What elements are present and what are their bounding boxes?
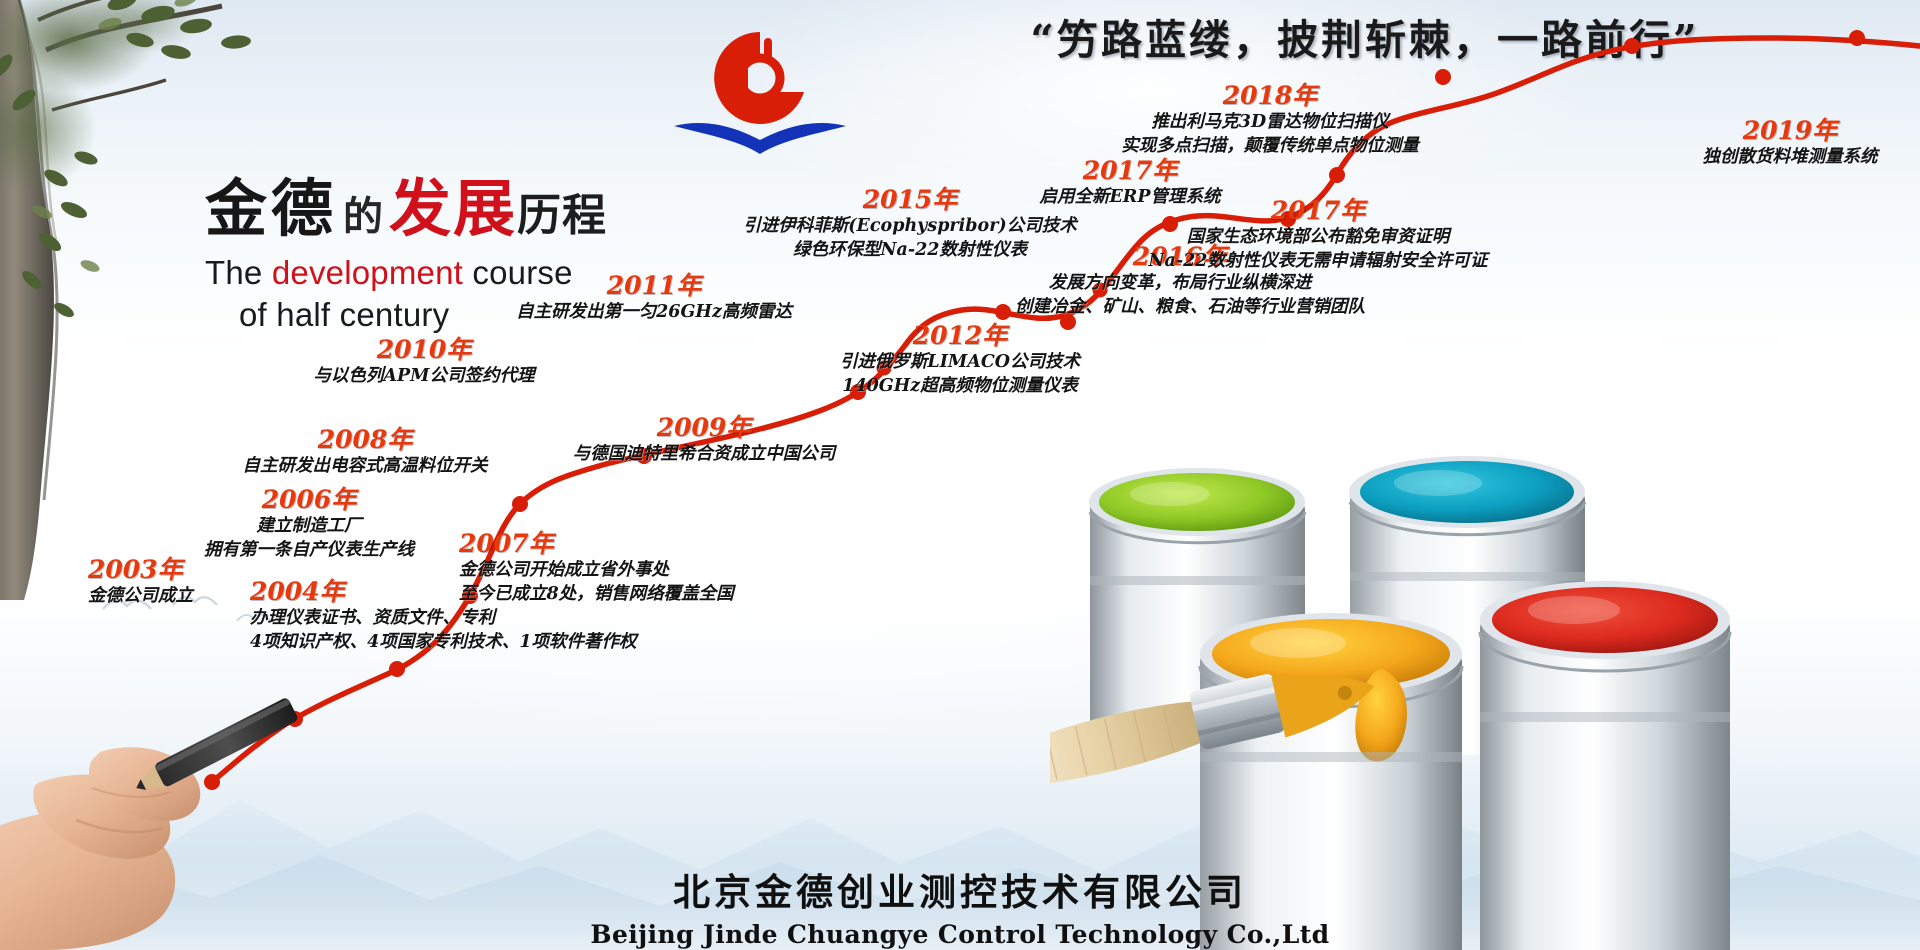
milestone-year: 2006年	[159, 486, 459, 514]
milestone-line: 引进俄罗斯LIMACO公司技术	[800, 350, 1120, 375]
headline-development: 发展	[389, 178, 517, 240]
milestone-line: 140GHz超高频物位测量仪表	[800, 374, 1120, 399]
milestone-year: 2009年	[534, 414, 874, 442]
headline-de: 的	[337, 197, 389, 237]
milestone-line: 4项知识产权、4项国家专利技术、1项软件著作权	[250, 630, 637, 655]
headline-course: 历程	[517, 194, 607, 238]
milestone-line: 自主研发出电容式高温料位开关	[195, 454, 535, 479]
milestone-2008: 2008年 自主研发出电容式高温料位开关	[195, 426, 535, 478]
milestone-year: 2017年	[995, 157, 1265, 185]
headline-brand: 金德	[205, 178, 337, 240]
milestone-line: 至今已成立8处，销售网络覆盖全国	[459, 582, 734, 607]
milestone-2010: 2010年 与以色列APM公司签约代理	[284, 336, 564, 388]
milestone-2007: 2007年 金德公司开始成立省外事处 至今已成立8处，销售网络覆盖全国	[459, 530, 734, 607]
milestone-year: 2017年	[1148, 197, 1488, 225]
milestone-2011: 2011年 自主研发出第一匀26GHz高频雷达	[494, 272, 814, 324]
milestone-line: 拥有第一条自产仪表生产线	[159, 538, 459, 563]
milestone-2009: 2009年 与德国迪特里希合资成立中国公司	[534, 414, 874, 466]
milestone-line: 独创散货料堆测量系统	[1660, 145, 1920, 170]
headline-chinese: 金德的发展历程	[205, 178, 607, 240]
milestone-2017-na22: 2017年 国家生态环境部公布豁免审资证明 Na-22数射性仪表无需申请辐射安全…	[1148, 197, 1488, 274]
milestone-year: 2019年	[1660, 117, 1920, 145]
milestone-line: 与以色列APM公司签约代理	[284, 364, 564, 389]
company-logo	[640, 18, 880, 158]
milestone-line: 国家生态环境部公布豁免审资证明	[1148, 225, 1488, 250]
milestone-line: 引进伊科菲斯(Ecophyspribor)公司技术	[740, 214, 1080, 239]
milestone-line: 推出利马克3D雷达物位扫描仪	[1100, 110, 1440, 135]
milestone-year: 2012年	[800, 322, 1120, 350]
milestone-2019: 2019年 独创散货料堆测量系统	[1660, 117, 1920, 169]
milestone-year: 2008年	[195, 426, 535, 454]
milestone-line: 与德国迪特里希合资成立中国公司	[534, 442, 874, 467]
milestone-year: 2018年	[1100, 82, 1440, 110]
milestone-line: 金德公司开始成立省外事处	[459, 558, 734, 583]
milestone-year: 2010年	[284, 336, 564, 364]
poster-slogan: “竻路蓝缕，披荆斩棘，一路前行”	[960, 6, 1770, 66]
milestone-line: 发展方向变革，布局行业纵横深进	[1015, 271, 1345, 296]
poster-canvas: “竻路蓝缕，披荆斩棘，一路前行” 金德的发展历程 The development…	[0, 0, 1920, 950]
milestone-2006: 2006年 建立制造工厂 拥有第一条自产仪表生产线	[159, 486, 459, 563]
headline-en-development: development	[272, 254, 463, 291]
milestone-line: 自主研发出第一匀26GHz高频雷达	[494, 300, 814, 325]
milestone-year: 2007年	[459, 530, 734, 558]
milestone-line: 金德公司成立	[88, 584, 193, 609]
milestone-line: 建立制造工厂	[159, 514, 459, 539]
milestone-line: 实现多点扫描，颠覆传统单点物位测量	[1100, 134, 1440, 159]
milestone-2012: 2012年 引进俄罗斯LIMACO公司技术 140GHz超高频物位测量仪表	[800, 322, 1120, 399]
milestone-year: 2011年	[494, 272, 814, 300]
milestone-2003: 2003年 金德公司成立	[88, 556, 193, 608]
milestone-line: 办理仪表证书、资质文件、专利	[250, 606, 637, 631]
headline-en-the: The	[205, 254, 272, 291]
milestone-line: 创建冶金、矿山、粮食、石油等行业营销团队	[1015, 295, 1345, 320]
milestone-2018: 2018年 推出利马克3D雷达物位扫描仪 实现多点扫描，颠覆传统单点物位测量	[1100, 82, 1440, 159]
milestone-line: Na-22数射性仪表无需申请辐射安全许可证	[1148, 249, 1488, 274]
